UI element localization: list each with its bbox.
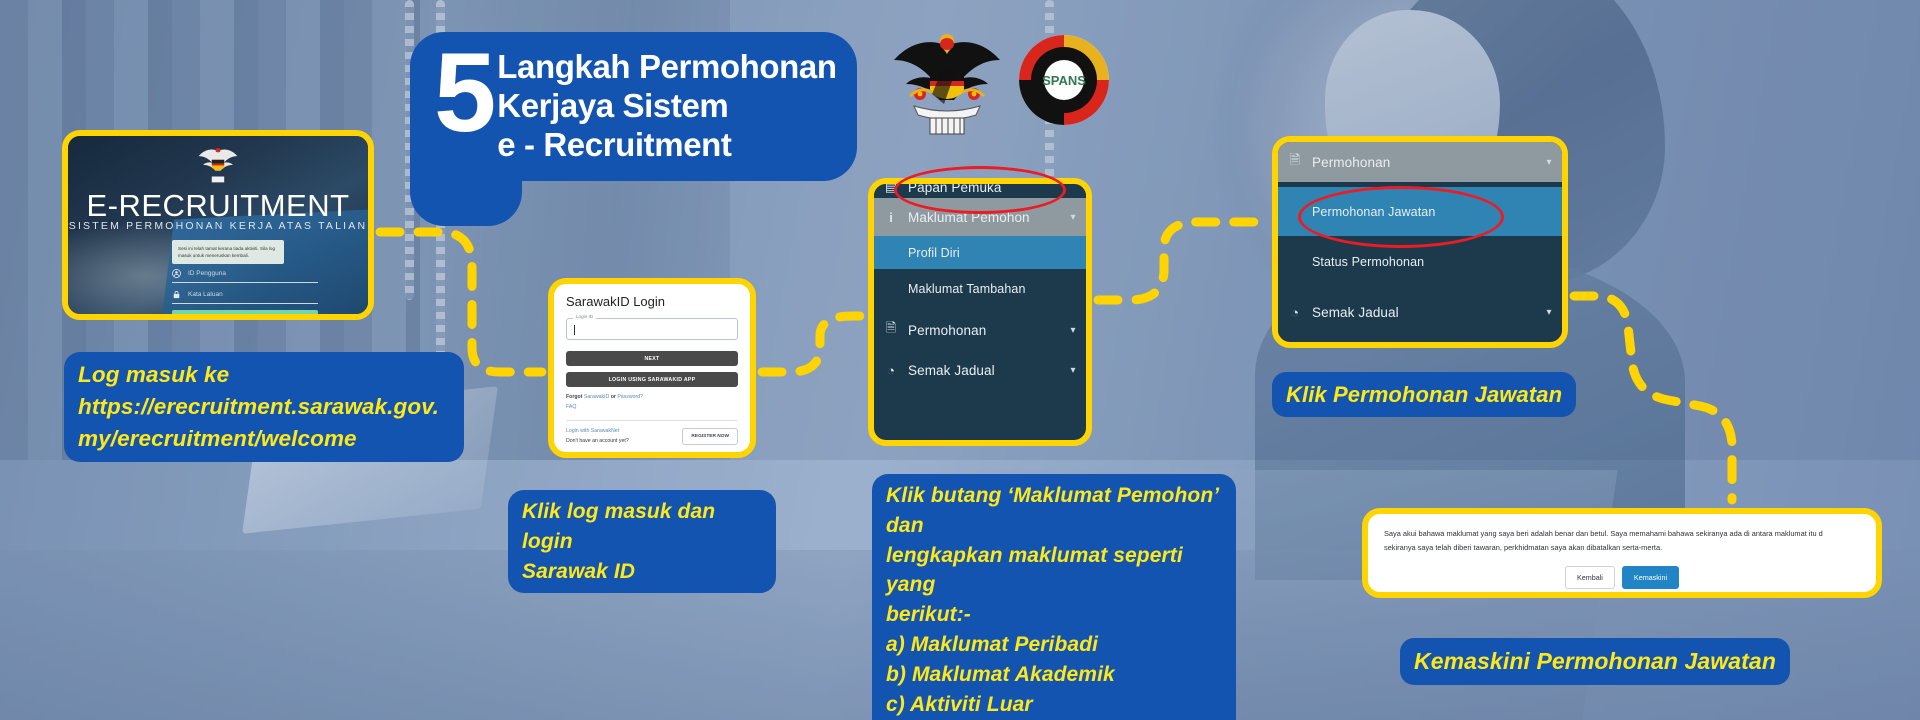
caption-login-url: Log masuk ke https://erecruitment.sarawa… xyxy=(64,352,464,462)
caption-line: Sarawak ID xyxy=(522,557,762,587)
faq-link[interactable]: FAQ xyxy=(566,404,576,410)
declaration-line-1: Saya akui bahawa maklumat yang saya beri… xyxy=(1368,514,1876,540)
forgot-sarawakid-link[interactable]: SarawakID xyxy=(584,394,609,400)
chevron-down-icon[interactable]: ▾ xyxy=(1536,157,1562,168)
password-field[interactable]: Kata Laluan xyxy=(172,285,318,304)
menu-item-semak-jadual[interactable]: ◔ Semak Jadual ▾ xyxy=(1278,288,1562,336)
kembali-button[interactable]: Kembali xyxy=(1565,566,1615,589)
chevron-down-icon[interactable]: ▾ xyxy=(1060,325,1086,336)
application-menu-card[interactable]: 🗎 Permohonan ▾ Permohonan Jawatan Status… xyxy=(1272,136,1568,348)
text-caret xyxy=(574,325,575,335)
menu-label: Papan Pemuka xyxy=(908,180,1086,195)
spans-wordmark: SPANS xyxy=(1042,73,1086,88)
declaration-dialog-card[interactable]: Saya akui bahawa maklumat yang saya beri… xyxy=(1362,508,1882,598)
divider xyxy=(566,420,738,421)
help-links: Forgot SarawakID or Password? FAQ xyxy=(566,393,738,413)
applicant-menu-card[interactable]: ▤ Papan Pemuka i Maklumat Pemohon ▾ Prof… xyxy=(868,178,1092,446)
info-icon: i xyxy=(874,210,908,225)
caption-line: berikut:- xyxy=(886,600,1222,630)
page-title: 5 Langkah Permohonan Kerjaya Sistem e - … xyxy=(410,32,857,181)
document-icon: 🗎 xyxy=(874,319,908,341)
step-count: 5 xyxy=(434,46,493,140)
kemaskini-button[interactable]: Kemaskini xyxy=(1622,566,1679,589)
sarawaknet-link[interactable]: Login with SarawakNet xyxy=(566,427,629,437)
caption-line: Klik butang ‘Maklumat Pemohon’ dan xyxy=(886,481,1222,541)
caption-line: https://erecruitment.sarawak.gov. xyxy=(78,391,450,423)
declaration-line-2: sekiranya saya telah diberi tawaran, per… xyxy=(1368,540,1876,554)
clock-icon: ◔ xyxy=(1278,305,1312,320)
login-id-input[interactable]: Login ID xyxy=(566,318,738,340)
caption-line: Log masuk ke xyxy=(78,359,450,391)
password-label: Kata Laluan xyxy=(188,291,223,298)
chevron-down-icon[interactable]: ▾ xyxy=(1060,365,1086,376)
menu-label: Permohonan xyxy=(908,323,1060,338)
caption-line: lengkapkan maklumat seperti yang xyxy=(886,541,1222,601)
user-icon xyxy=(172,269,181,278)
menu-label: Maklumat Tambahan xyxy=(874,282,1086,296)
sarawakid-login-card[interactable]: SarawakID Login Login ID NEXT LOGIN USIN… xyxy=(548,278,756,458)
dashboard-icon: ▤ xyxy=(874,179,908,195)
caption-line: c) Aktiviti Luar xyxy=(886,690,1222,720)
no-account-text: Don't have an account yet? xyxy=(566,437,629,447)
menu-item-status-permohonan[interactable]: Status Permohonan xyxy=(1278,236,1562,288)
document-icon: 🗎 xyxy=(1278,151,1312,173)
caption-line: Kemaskini Permohonan Jawatan xyxy=(1414,645,1776,678)
next-button[interactable]: NEXT xyxy=(566,351,738,366)
caption-sarawakid-login: Klik log masuk dan login Sarawak ID xyxy=(508,490,776,593)
chevron-down-icon[interactable]: ▾ xyxy=(1536,307,1562,318)
menu-item-maklumat-pemohon[interactable]: i Maklumat Pemohon ▾ xyxy=(874,198,1086,236)
chevron-down-icon[interactable]: ▾ xyxy=(1060,212,1086,223)
log-masuk-button[interactable]: Log Masuk xyxy=(172,310,318,320)
menu-item-profil-diri[interactable]: Profil Diri xyxy=(874,236,1086,269)
menu-item-maklumat-tambahan[interactable]: Maklumat Tambahan xyxy=(874,269,1086,309)
menu-item-semak-jadual[interactable]: ◔ Semak Jadual ▾ xyxy=(874,351,1086,389)
title-line-1: Langkah Permohonan xyxy=(497,48,836,87)
spans-logo-icon: SPANS xyxy=(1018,34,1110,126)
forgot-prefix: Forgot xyxy=(566,394,584,400)
menu-item-permohonan[interactable]: 🗎 Permohonan ▾ xyxy=(1278,142,1562,182)
forgot-password-link[interactable]: Password? xyxy=(617,394,643,400)
caption-line: Klik log masuk dan login xyxy=(522,497,762,557)
splash-subtitle: SISTEM PERMOHONAN KERJA ATAS TALIAN xyxy=(68,220,368,232)
menu-label: Permohonan Jawatan xyxy=(1278,205,1562,219)
splash-title: E-RECRUITMENT xyxy=(68,188,368,224)
register-now-button[interactable]: REGISTER NOW xyxy=(682,428,738,445)
title-line-3: e - Recruitment xyxy=(497,126,836,165)
e-recruitment-splash-card[interactable]: E-RECRUITMENT SISTEM PERMOHONAN KERJA AT… xyxy=(62,130,374,320)
menu-label: Status Permohonan xyxy=(1278,255,1562,269)
login-id-label: Login ID xyxy=(573,314,596,319)
title-line-2: Kerjaya Sistem xyxy=(497,87,836,126)
splash-crest-icon xyxy=(195,140,241,186)
clock-icon: ◔ xyxy=(874,363,908,378)
user-id-field[interactable]: ID Pengguna xyxy=(172,264,318,283)
menu-label: Profil Diri xyxy=(874,246,1086,260)
menu-item-papan-pemuka[interactable]: ▤ Papan Pemuka xyxy=(874,178,1086,198)
lock-icon xyxy=(172,290,181,299)
menu-item-permohonan[interactable]: 🗎 Permohonan ▾ xyxy=(874,309,1086,351)
forgot-line: Forgot SarawakID or Password? xyxy=(566,393,738,403)
login-using-app-button[interactable]: LOGIN USING SARAWAKID APP xyxy=(566,372,738,387)
sarawak-state-crest-icon xyxy=(884,20,1010,138)
caption-line: a) Maklumat Peribadi xyxy=(886,630,1222,660)
sarawakid-title: SarawakID Login xyxy=(566,294,738,309)
caption-line: b) Maklumat Akademik xyxy=(886,660,1222,690)
menu-label: Maklumat Pemohon xyxy=(908,210,1060,225)
caption-klik-permohonan-jawatan: Klik Permohonan Jawatan xyxy=(1272,372,1576,417)
menu-label: Semak Jadual xyxy=(1312,305,1536,320)
caption-line: Klik Permohonan Jawatan xyxy=(1286,379,1562,410)
caption-kemaskini-permohonan: Kemaskini Permohonan Jawatan xyxy=(1400,638,1790,685)
menu-label: Semak Jadual xyxy=(908,363,1060,378)
menu-item-permohonan-jawatan[interactable]: Permohonan Jawatan xyxy=(1278,187,1562,236)
menu-label: Permohonan xyxy=(1312,155,1536,170)
user-id-label: ID Pengguna xyxy=(188,270,226,277)
caption-line: my/erecruitment/welcome xyxy=(78,423,450,455)
session-expired-alert: Sesi ini telah tamat kerana tiada aktivi… xyxy=(172,240,284,264)
caption-maklumat-pemohon: Klik butang ‘Maklumat Pemohon’ dan lengk… xyxy=(872,474,1236,720)
